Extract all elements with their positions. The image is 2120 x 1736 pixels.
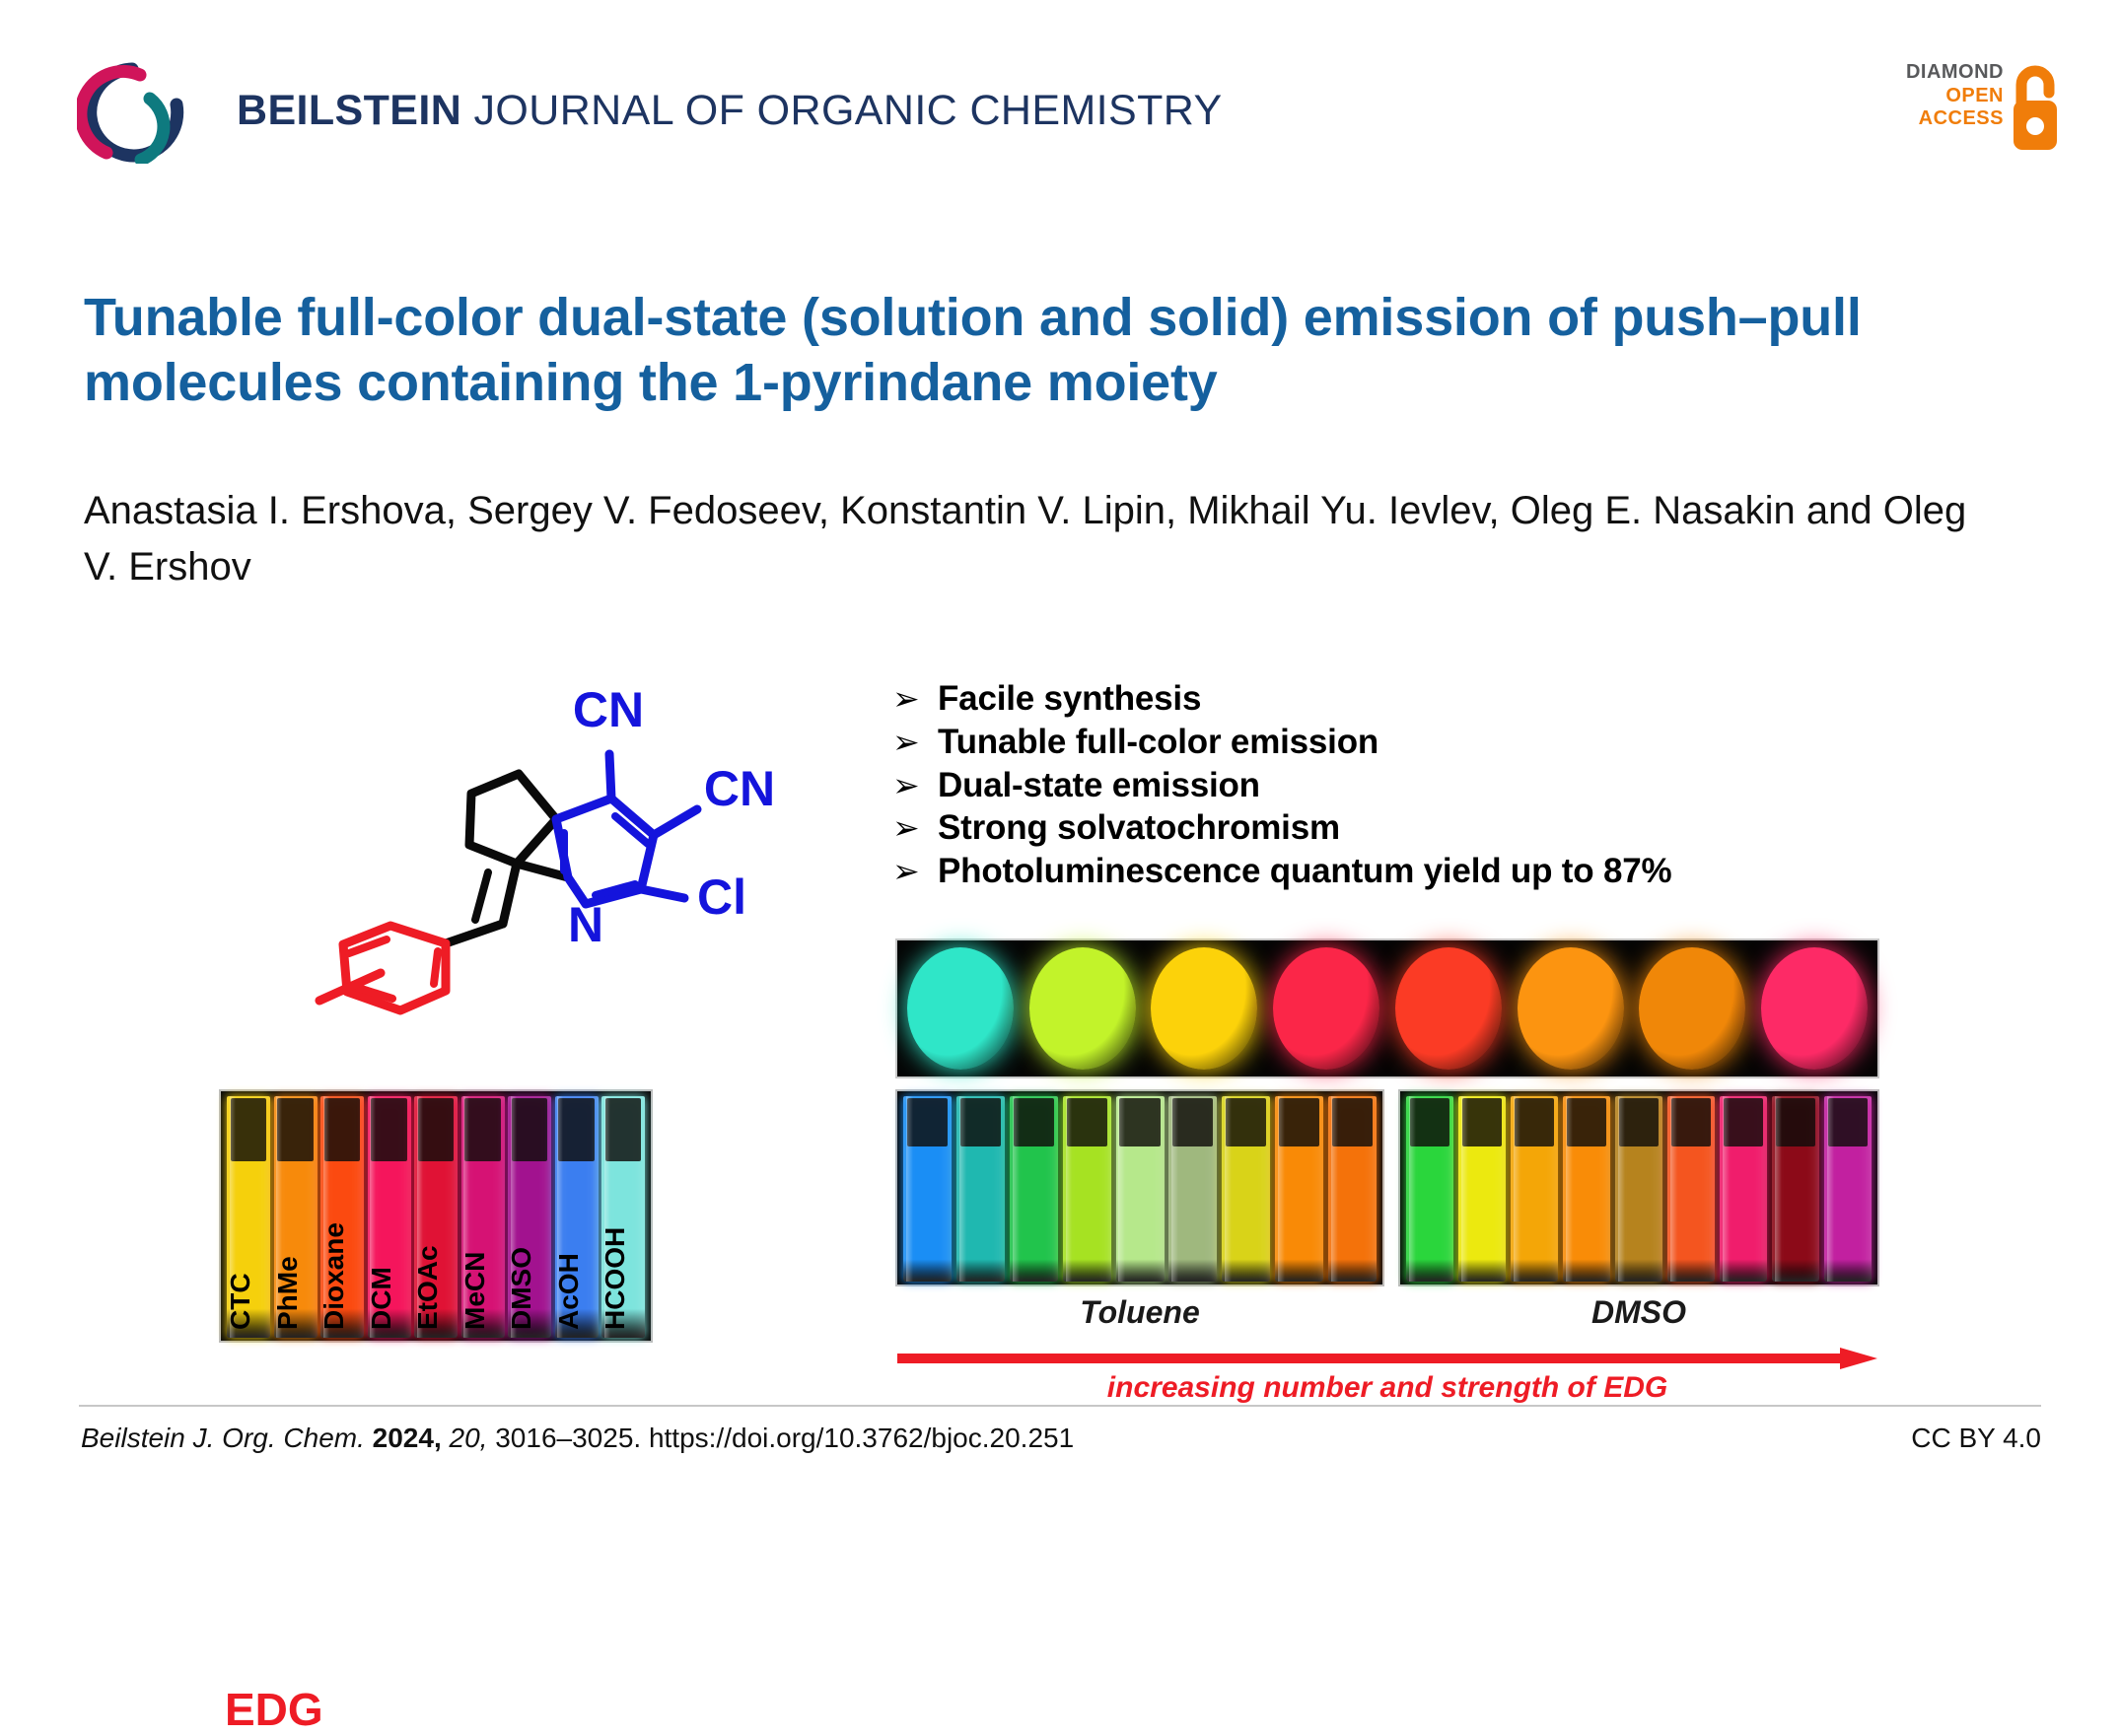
cuvette-solvent-label: DMSO: [508, 1172, 551, 1330]
cuvette-cap: [1724, 1098, 1763, 1146]
cuvette: HCOOH: [601, 1096, 645, 1338]
solid-emission-dot: [1639, 947, 1745, 1070]
cuvette-cap: [1671, 1098, 1711, 1146]
cuvette-solvent-label: CTC: [227, 1172, 270, 1330]
cuvette-solvent-label: HCOOH: [601, 1172, 645, 1330]
open-access-text: DIAMOND OPEN ACCESS: [1906, 61, 2004, 131]
cuvette-gloss: [1723, 1096, 1730, 1282]
solid-emission-dot: [1395, 947, 1502, 1070]
cuvette-solvent-label: EtOAc: [414, 1172, 458, 1330]
cuvette-cap: [1410, 1098, 1449, 1146]
list-item: ➢ Photoluminescence quantum yield up to …: [892, 853, 1878, 890]
arrow-bullet-icon: ➢: [892, 769, 938, 801]
cuvette-cap: [464, 1098, 501, 1161]
cuvette-cap: [512, 1098, 548, 1161]
author-list: Anastasia I. Ershova, Sergey V. Fedoseev…: [84, 483, 1977, 595]
cuvette-cap: [1226, 1098, 1266, 1146]
solid-emission-dot: [1029, 947, 1136, 1070]
label-cl: Cl: [697, 869, 746, 925]
solid-emission-dot: [1761, 947, 1868, 1070]
highlight-text: Photoluminescence quantum yield up to 87…: [938, 853, 1671, 890]
open-lock-icon: [2008, 63, 2063, 154]
highlight-text: Tunable full-color emission: [938, 724, 1378, 761]
open-access-line-diamond: DIAMOND: [1906, 61, 2004, 85]
cuvette-gloss: [1225, 1096, 1232, 1282]
cuvette-cap: [277, 1098, 314, 1161]
cuvette-gloss: [1827, 1096, 1834, 1282]
highlights-list: ➢ Facile synthesis ➢ Tunable full-color …: [892, 680, 1878, 896]
cuvette: [1168, 1096, 1217, 1282]
cuvette: MeCN: [461, 1096, 505, 1338]
cuvette-gloss: [1171, 1096, 1178, 1282]
cuvette: [956, 1096, 1005, 1282]
caption-dmso: DMSO: [1398, 1294, 1879, 1331]
solid-emission-dot: [1518, 947, 1624, 1070]
cuvette-cap: [1828, 1098, 1868, 1146]
solvatochromism-cuvette-photo: CTCPhMeDioxaneDCMEtOAcMeCNDMSOAcOHHCOOH: [219, 1089, 653, 1343]
cuvette-cap: [1279, 1098, 1319, 1146]
cuvette: [1116, 1096, 1165, 1282]
cuvette-gloss: [959, 1096, 966, 1282]
cuvette-solvent-label: PhMe: [274, 1172, 318, 1330]
citation-pages: 3016–3025.: [495, 1423, 641, 1453]
label-cn-right: CN: [704, 761, 775, 816]
cuvette: [1458, 1096, 1506, 1282]
cuvette-solvent-label: AcOH: [555, 1172, 599, 1330]
highlight-text: Dual-state emission: [938, 767, 1260, 804]
cuvette-gloss: [1775, 1096, 1782, 1282]
arrow-bullet-icon: ➢: [892, 682, 938, 715]
journal-title-rest: JOURNAL OF ORGANIC CHEMISTRY: [461, 87, 1222, 134]
journal-title: BEILSTEIN JOURNAL OF ORGANIC CHEMISTRY: [237, 87, 1223, 135]
cuvette: Dioxane: [320, 1096, 364, 1338]
cuvette-cap: [324, 1098, 361, 1161]
list-item: ➢ Facile synthesis: [892, 680, 1878, 718]
cuvette-cap: [960, 1098, 1001, 1146]
caption-toluene: Toluene: [895, 1294, 1384, 1331]
cuvette-solvent-label: MeCN: [461, 1172, 505, 1330]
cuvette: DCM: [368, 1096, 411, 1338]
cuvette: [1328, 1096, 1377, 1282]
cuvette-cap: [1172, 1098, 1213, 1146]
cuvette-gloss: [1118, 1096, 1125, 1282]
cuvette-gloss: [1331, 1096, 1338, 1282]
graphical-abstract: CN CN N Cl EDG ➢ Facile synthesis ➢ Tuna…: [0, 656, 2120, 1375]
cuvette-cap: [1119, 1098, 1160, 1146]
cuvette-cap: [1619, 1098, 1659, 1146]
cuvette-cap: [1067, 1098, 1107, 1146]
arrow-caption: increasing number and strength of EDG: [895, 1371, 1879, 1405]
label-edg: EDG: [225, 1683, 323, 1736]
cuvette-solvent-label: DCM: [368, 1172, 411, 1330]
list-item: ➢ Strong solvatochromism: [892, 809, 1878, 847]
highlight-text: Facile synthesis: [938, 680, 1201, 718]
cuvette: [1824, 1096, 1872, 1282]
cuvette-solvent-label: Dioxane: [320, 1172, 364, 1330]
highlight-text: Strong solvatochromism: [938, 809, 1340, 847]
cuvette: [1063, 1096, 1111, 1282]
cuvette-cap: [558, 1098, 595, 1161]
cuvette: [1563, 1096, 1610, 1282]
arrow-bullet-icon: ➢: [892, 726, 938, 758]
cuvette: [1406, 1096, 1453, 1282]
cuvette: [1772, 1096, 1819, 1282]
list-item: ➢ Tunable full-color emission: [892, 724, 1878, 761]
open-access-line-open: OPEN: [1906, 85, 2004, 108]
cuvette: AcOH: [555, 1096, 599, 1338]
solid-emission-dot: [907, 947, 1014, 1070]
license-label: CC BY 4.0: [1911, 1423, 2041, 1454]
cuvette: EtOAc: [414, 1096, 458, 1338]
cuvette-gloss: [1013, 1096, 1020, 1282]
page-title: Tunable full-color dual-state (solution …: [84, 286, 1957, 416]
cuvette: [1511, 1096, 1558, 1282]
cuvette: [1667, 1096, 1715, 1282]
arrow-bullet-icon: ➢: [892, 855, 938, 887]
cuvette-cap: [907, 1098, 948, 1146]
cuvette-gloss: [1409, 1096, 1416, 1282]
cuvette-cap: [418, 1098, 455, 1161]
label-cn-top: CN: [573, 682, 644, 737]
cuvette-gloss: [1461, 1096, 1468, 1282]
journal-title-bold: BEILSTEIN: [237, 87, 461, 134]
cuvette-cap: [371, 1098, 407, 1161]
footer-divider: [79, 1405, 2041, 1407]
diamond-open-access-badge: DIAMOND OPEN ACCESS: [1866, 61, 2063, 155]
open-access-line-access: ACCESS: [1906, 107, 2004, 131]
citation-journal: Beilstein J. Org. Chem.: [81, 1423, 365, 1453]
list-item: ➢ Dual-state emission: [892, 767, 1878, 804]
cuvette: CTC: [227, 1096, 270, 1338]
cuvette-gloss: [1278, 1096, 1285, 1282]
cuvette-gloss: [1566, 1096, 1573, 1282]
beilstein-triple-crescent-logo: [77, 61, 203, 164]
cuvette-gloss: [1670, 1096, 1677, 1282]
chemical-structure-diagram: CN CN N Cl: [217, 656, 887, 1079]
citation: Beilstein J. Org. Chem. 2024, 20, 3016–3…: [81, 1423, 1074, 1454]
solid-emission-dot: [1273, 947, 1379, 1070]
cuvette-cap: [605, 1098, 642, 1161]
citation-year: 2024,: [373, 1423, 442, 1453]
citation-volume: 20,: [450, 1423, 488, 1453]
cuvette: PhMe: [274, 1096, 318, 1338]
cuvette: [1010, 1096, 1058, 1282]
cuvette-cap: [1462, 1098, 1502, 1146]
cuvette-gloss: [1514, 1096, 1520, 1282]
cuvette: [903, 1096, 952, 1282]
dmso-series-cuvette-photo: [1398, 1089, 1879, 1286]
cuvette-cap: [1776, 1098, 1815, 1146]
cuvette: [1222, 1096, 1270, 1282]
cuvette: [1720, 1096, 1767, 1282]
cuvette-cap: [1332, 1098, 1373, 1146]
cuvette: DMSO: [508, 1096, 551, 1338]
arrow-bullet-icon: ➢: [892, 811, 938, 844]
solid-state-emission-photo: [895, 938, 1879, 1078]
toluene-series-cuvette-photo: [895, 1089, 1384, 1286]
label-n: N: [568, 897, 603, 952]
cuvette-cap: [1567, 1098, 1606, 1146]
citation-doi-link[interactable]: https://doi.org/10.3762/bjoc.20.251: [649, 1423, 1074, 1453]
cuvette: [1275, 1096, 1323, 1282]
cuvette-gloss: [1618, 1096, 1625, 1282]
cuvette-cap: [1515, 1098, 1554, 1146]
cuvette: [1615, 1096, 1662, 1282]
page-header: BEILSTEIN JOURNAL OF ORGANIC CHEMISTRY D…: [0, 0, 2120, 182]
solid-emission-dot: [1151, 947, 1257, 1070]
increasing-edg-arrow-icon: [895, 1346, 1879, 1371]
cuvette-gloss: [1066, 1096, 1073, 1282]
cuvette-gloss: [906, 1096, 913, 1282]
cuvette-cap: [231, 1098, 267, 1161]
cuvette-cap: [1014, 1098, 1054, 1146]
